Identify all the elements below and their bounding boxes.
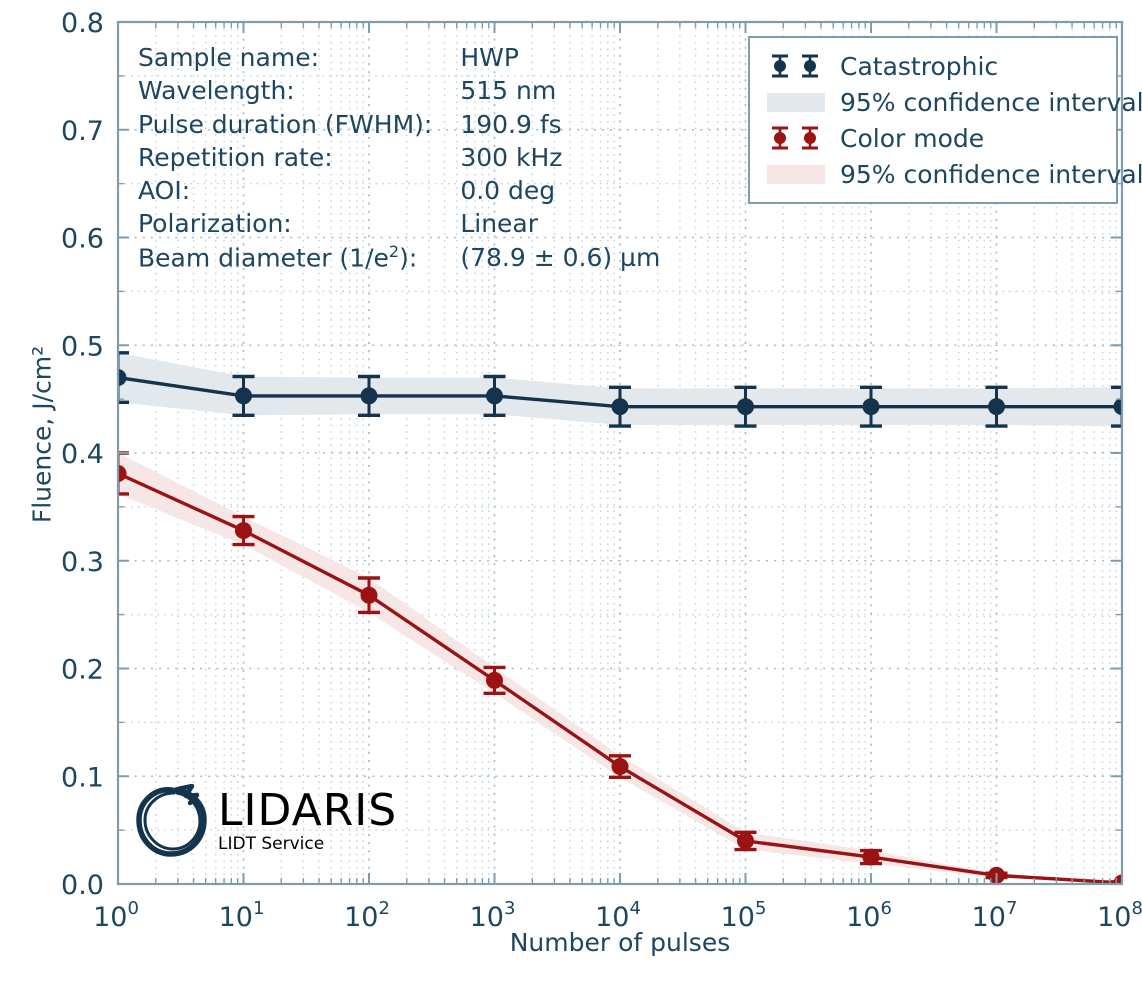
y-tick-label: 0.0 [61, 870, 104, 901]
parameter-row: Polarization:Linear [138, 208, 660, 241]
legend-band-swatch [760, 93, 832, 112]
parameter-row: AOI:0.0 deg [138, 175, 660, 208]
lidaris-logo: LIDARIS LIDT Service [134, 784, 397, 858]
parameter-row: Wavelength:515 nm [138, 75, 660, 108]
legend-item[interactable]: 95% confidence interval [760, 156, 1102, 192]
legend-item-label: 95% confidence interval [840, 160, 1142, 189]
x-axis-title-text: Number of pulses [510, 928, 731, 957]
parameter-label: AOI: [138, 175, 460, 208]
lidaris-tagline: LIDT Service [218, 836, 397, 853]
legend-item-label: Catastrophic [840, 52, 998, 81]
parameter-label: Beam diameter (1/e2): [138, 242, 460, 276]
y-tick-label: 0.2 [61, 655, 104, 686]
parameter-label: Sample name: [138, 42, 460, 75]
parameter-row: Sample name:HWP [138, 42, 660, 75]
y-tick-label: 0.8 [61, 8, 104, 39]
y-tick-label: 0.1 [61, 762, 104, 793]
legend-item-label: 95% confidence interval [840, 88, 1142, 117]
legend-item[interactable]: Color mode [760, 120, 1102, 156]
lidaris-wordmark: LIDARIS [218, 789, 397, 833]
parameter-value: 515 nm [460, 75, 660, 108]
legend-box: Catastrophic95% confidence intervalColor… [748, 36, 1118, 204]
data-point [860, 849, 882, 866]
legend-errorbar-icon [760, 51, 832, 81]
legend-band-swatch [760, 165, 832, 184]
parameter-value: 0.0 deg [460, 175, 660, 208]
y-tick-label: 0.7 [61, 116, 104, 147]
parameter-label: Polarization: [138, 208, 460, 241]
legend-item[interactable]: Catastrophic [760, 48, 1102, 84]
parameter-row: Repetition rate:300 kHz [138, 142, 660, 175]
legend-item-label: Color mode [840, 124, 984, 153]
y-tick-label: 0.6 [61, 224, 104, 255]
parameter-label: Repetition rate: [138, 142, 460, 175]
parameter-value: 300 kHz [460, 142, 660, 175]
measurement-parameters: Sample name:HWPWavelength:515 nmPulse du… [138, 42, 660, 275]
chart-root: 1001011021031041051061071080.00.10.20.30… [0, 0, 1142, 982]
lidaris-mark-icon [134, 784, 208, 858]
parameter-value: 190.9 fs [460, 109, 660, 142]
legend-item[interactable]: 95% confidence interval [760, 84, 1102, 120]
parameter-row: Pulse duration (FWHM):190.9 fs [138, 109, 660, 142]
y-tick-label: 0.4 [61, 439, 104, 470]
parameter-row: Beam diameter (1/e2):(78.9 ± 0.6) µm [138, 242, 660, 276]
y-axis-title-text: Fluence, J/cm² [28, 346, 57, 523]
y-tick-label: 0.5 [61, 331, 104, 362]
parameter-value: Linear [460, 208, 660, 241]
parameter-value: HWP [460, 42, 660, 75]
legend-errorbar-icon [760, 123, 832, 153]
y-tick-label: 0.3 [61, 547, 104, 578]
y-axis-title: Fluence, J/cm² [28, 335, 57, 535]
parameter-value: (78.9 ± 0.6) µm [460, 242, 660, 276]
parameter-label: Wavelength: [138, 75, 460, 108]
x-axis-title: Number of pulses [118, 928, 1122, 957]
parameter-label: Pulse duration (FWHM): [138, 109, 460, 142]
